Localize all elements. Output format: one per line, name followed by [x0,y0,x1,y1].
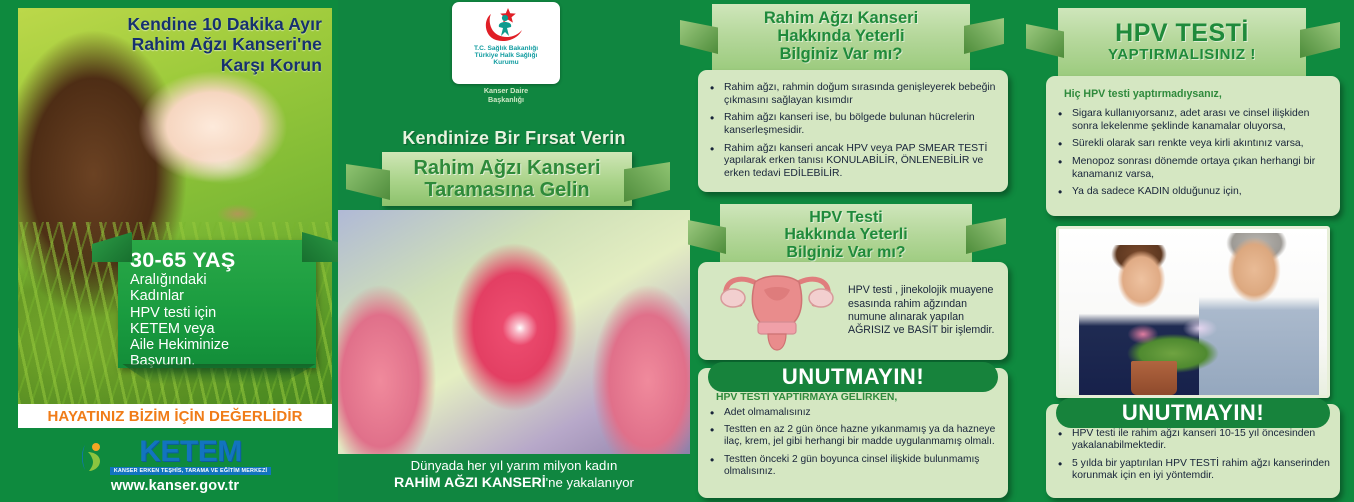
department-line-1: Kanser Daire [452,86,560,95]
block2-content-card: HPV testi , jinekolojik muayene esasında… [698,262,1008,360]
panel4-bullet-2: Sürekli olarak sarı renkte veya kirli ak… [1052,138,1330,151]
panel-awareness: Kendine 10 Dakika Ayır Rahim Ağzı Kanser… [0,0,338,502]
card-line-age: 30-65 YAŞ [130,248,306,272]
card-line-6: Aile Hekiminize [130,337,306,353]
block1-title-line-1: Rahim Ağzı Kanseri [764,10,918,28]
panel2-pretitle: Kendinize Bir Fırsat Verin [338,128,690,149]
brochure-canvas: Kendine 10 Dakika Ayır Rahim Ağzı Kanser… [0,0,1354,502]
panel4-unut-bullet-1: HPV testi ile rahim ağzı kanseri 10-15 y… [1052,428,1330,453]
ketem-name: KETEM [139,438,242,467]
block3-bullet-3: Testten önceki 2 gün boyunca cinsel iliş… [704,454,998,478]
block3-unutmayin-title: UNUTMAYIN! [708,362,998,392]
card-line-4: HPV testi için [130,305,306,321]
headline-line-2: Rahim Ağzı Kanseri'ne [60,34,322,54]
block1-title-line-2: Hakkında Yeterli [777,28,904,46]
panel1-headline: Kendine 10 Dakika Ayır Rahim Ağzı Kanser… [60,14,322,75]
sparkle-highlight-icon [500,308,540,348]
ketem-logo-row: KETEM KANSER ERKEN TEŞHİS, TARAMA VE EĞİ… [79,438,271,475]
ribbon-tail-right [624,162,670,202]
panel-invitation: T.C. Sağlık Bakanlığı Türkiye Halk Sağlı… [338,0,690,502]
ribbon-line-2: Taramasına Gelin [424,179,589,201]
block2-ribbon: HPV Testi Hakkında Yeterli Bilginiz Var … [720,204,972,266]
panel2-footer: Dünyada her yıl yarım milyon kadın RAHİM… [338,458,690,492]
ribbon-tail-right [1300,22,1340,58]
department-line-2: Başkanlığı [452,95,560,104]
uterus-icon [706,266,848,357]
panel-hpv-test: HPV TESTİ YAPTIRMALISINIZ ! Hiç HPV test… [1032,0,1354,502]
ribbon-tail-left [1026,24,1064,58]
panel4-title-line-2: YAPTIRMALISINIZ ! [1108,47,1256,63]
ketem-person-icon [79,442,105,472]
headline-line-1: Kendine 10 Dakika Ayır [60,14,322,34]
photo-flower-pot [1131,361,1177,395]
ribbon-tail-right [964,18,1004,54]
headline-line-3: Karşı Korun [60,55,322,75]
card-line-2: Aralığındaki [130,272,306,288]
block3-subtitle: HPV TESTİ YAPTIRMAYA GELİRKEN, [716,392,998,403]
panel4-bullet-1: Sigara kullanıyorsanız, adet arası ve ci… [1052,108,1330,133]
card-line-5: KETEM veya [130,321,306,337]
panel4-lead-text: Hiç HPV testi yaptırmadıysanız, [1064,88,1330,100]
panel4-unutmayin-title: UNUTMAYIN! [1056,398,1330,428]
block2-title-line-3: Bilginiz Var mı? [786,244,905,261]
panel4-bullet-list: Sigara kullanıyorsanız, adet arası ve ci… [1052,108,1330,199]
ketem-wordmark: KETEM KANSER ERKEN TEŞHİS, TARAMA VE EĞİ… [110,438,271,475]
ribbon-tail-left [346,164,390,200]
ministry-emblem-icon [478,6,534,44]
ribbon-tail-right [966,218,1006,254]
ministry-department: Kanser Daire Başkanlığı [452,86,560,105]
elderly-couple-photo [1056,226,1330,398]
age-range-callout-card: 30-65 YAŞ Aralığındaki Kadınlar HPV test… [118,240,316,368]
hands-holding-heart-photo [338,210,690,454]
ministry-line-2: Türkiye Halk Sağlığı [475,52,538,59]
panel2-ribbon-banner: Rahim Ağzı Kanseri Taramasına Gelin [382,152,632,206]
footer-line-2-bold: RAHİM AĞZI KANSERİ [394,475,546,491]
ministry-line-1: T.C. Sağlık Bakanlığı [474,45,538,52]
ribbon-line-1: Rahim Ağzı Kanseri [413,157,600,179]
value-slogan-strip: HAYATINIZ BİZİM İÇİN DEĞERLİDİR [18,404,332,428]
panel4-content-card: Hiç HPV testi yaptırmadıysanız, Sigara k… [1046,76,1340,216]
ribbon-tail-left [688,220,726,254]
panel4-unut-bullet-list: HPV testi ile rahim ağzı kanseri 10-15 y… [1052,428,1330,483]
footer-line-1: Dünyada her yıl yarım milyon kadın [338,458,690,475]
block3-bullet-list: Adet olmamalısınız Testten en az 2 gün ö… [704,407,998,478]
card-line-3: Kadınlar [130,288,306,304]
block1-bullet-1: Rahim ağzı, rahmin doğum sırasında geniş… [704,82,996,107]
block3-bullet-2: Testten en az 2 gün önce hazne yıkanmamı… [704,424,998,448]
block2-title-line-1: HPV Testi [809,209,883,226]
footer-line-2: RAHİM AĞZI KANSERİ'ne yakalanıyor [338,475,690,493]
block1-content-card: Rahim ağzı, rahmin doğum sırasında geniş… [698,70,1008,192]
panel4-ribbon: HPV TESTİ YAPTIRMALISINIZ ! [1058,8,1306,76]
block1-ribbon: Rahim Ağzı Kanseri Hakkında Yeterli Bilg… [712,4,970,70]
panel-cervical-info: Rahim Ağzı Kanseri Hakkında Yeterli Bilg… [690,0,1032,502]
ketem-subtitle: KANSER ERKEN TEŞHİS, TARAMA VE EĞİTİM ME… [110,467,271,475]
panel4-bullet-4: Ya da sadece KADIN olduğunuz için, [1052,186,1330,199]
block3-bullet-1: Adet olmamalısınız [704,407,998,419]
block1-bullet-3: Rahim ağzı kanseri ancak HPV veya PAP SM… [704,143,996,181]
ministry-of-health-logo: T.C. Sağlık Bakanlığı Türkiye Halk Sağlı… [452,2,560,84]
ketem-logo-block: KETEM KANSER ERKEN TEŞHİS, TARAMA VE EĞİ… [18,430,332,502]
ministry-line-3: Kurumu [493,59,518,66]
block2-body-text: HPV testi , jinekolojik muayene esasında… [848,284,1000,337]
block1-bullet-2: Rahim ağzı kanseri ise, bu bölgede bulun… [704,112,996,137]
panel4-unut-bullet-2: 5 yılda bir yaptırılan HPV TESTİ rahim a… [1052,458,1330,483]
panel4-title-line-1: HPV TESTİ [1115,20,1249,47]
block1-title-line-3: Bilginiz Var mı? [780,46,903,64]
ketem-website-url[interactable]: www.kanser.gov.tr [111,478,239,494]
block2-title-line-2: Hakkında Yeterli [784,226,907,243]
footer-line-2-rest: 'ne yakalanıyor [546,475,634,490]
panel4-bullet-3: Menopoz sonrası dönemde ortaya çıkan her… [1052,156,1330,181]
block1-bullet-list: Rahim ağzı, rahmin doğum sırasında geniş… [704,82,996,181]
